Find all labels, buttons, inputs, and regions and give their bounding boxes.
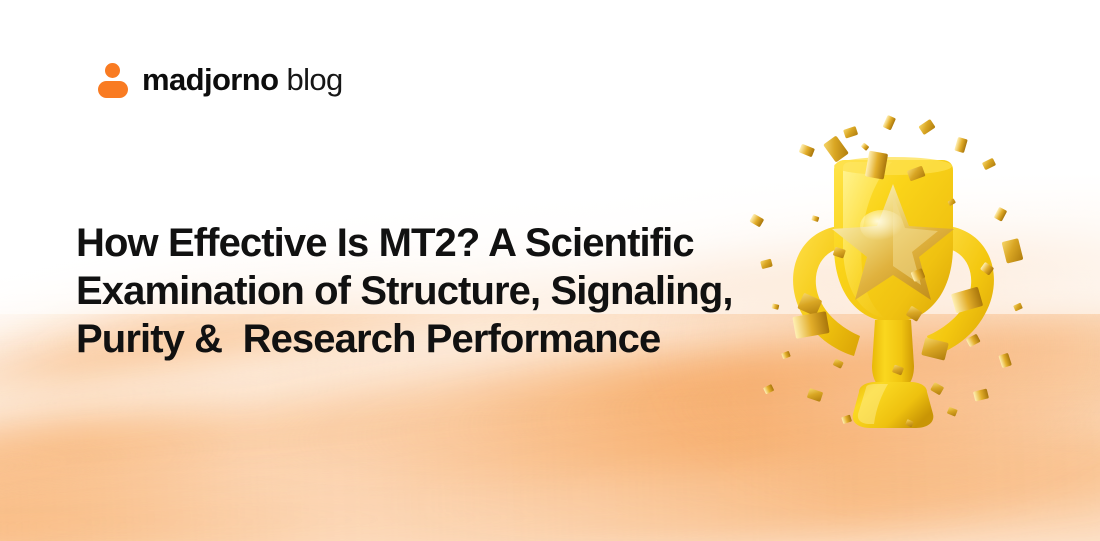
blog-hero-banner: madjorno blog How Effective Is MT2? A Sc… <box>0 0 1100 541</box>
logo-sub-name: blog <box>278 62 342 97</box>
page-title: How Effective Is MT2? A Scientific Exami… <box>76 219 756 363</box>
trophy-illustration <box>742 108 1042 438</box>
person-icon-head <box>105 63 120 78</box>
logo-brand-name: madjorno <box>142 62 278 97</box>
trophy-svg <box>742 108 1042 438</box>
trophy-stem <box>872 320 914 392</box>
person-icon <box>98 60 128 98</box>
site-logo[interactable]: madjorno blog <box>98 60 343 98</box>
person-icon-body <box>98 81 128 98</box>
logo-sub-text: blog <box>286 62 342 97</box>
logo-wordmark: madjorno blog <box>142 64 343 95</box>
